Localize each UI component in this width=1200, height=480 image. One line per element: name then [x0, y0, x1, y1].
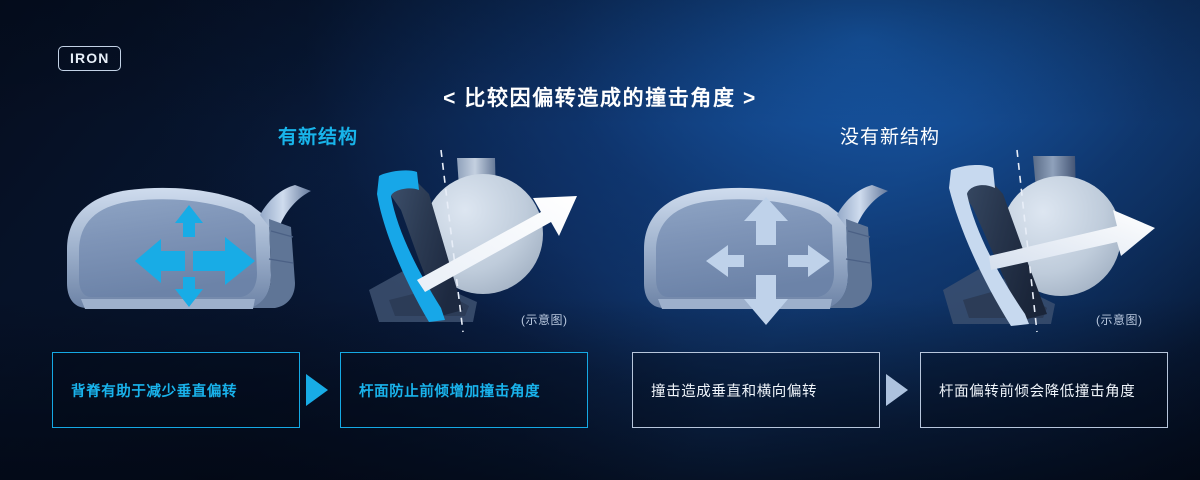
page-title: < 比较因偏转造成的撞击角度 > — [0, 82, 1200, 112]
sole — [658, 299, 832, 309]
clubhead-face — [656, 199, 834, 297]
column-title-with-new-structure: 有新结构 — [278, 122, 358, 149]
flow-arrow-left-icon — [306, 374, 328, 406]
caption-left-1: 背脊有助于减少垂直偏转 — [52, 352, 300, 428]
column-title-without-new-structure: 没有新结构 — [840, 122, 940, 149]
caption-left-2: 杆面防止前倾增加撞击角度 — [340, 352, 588, 428]
clubhead-figure-left — [55, 175, 335, 335]
flow-arrow-right-icon — [886, 374, 908, 406]
iron-badge: IRON — [58, 46, 121, 71]
caption-right-2: 杆面偏转前倾会降低撞击角度 — [920, 352, 1168, 428]
schematic-note-right: (示意图) — [1096, 311, 1143, 328]
clubhead-figure-right — [632, 175, 912, 335]
infographic-canvas: IRON < 比较因偏转造成的撞击角度 > 有新结构 没有新结构 — [0, 0, 1200, 480]
caption-right-1: 撞击造成垂直和横向偏转 — [632, 352, 880, 428]
sole — [81, 299, 255, 309]
schematic-note-left: (示意图) — [521, 311, 568, 328]
